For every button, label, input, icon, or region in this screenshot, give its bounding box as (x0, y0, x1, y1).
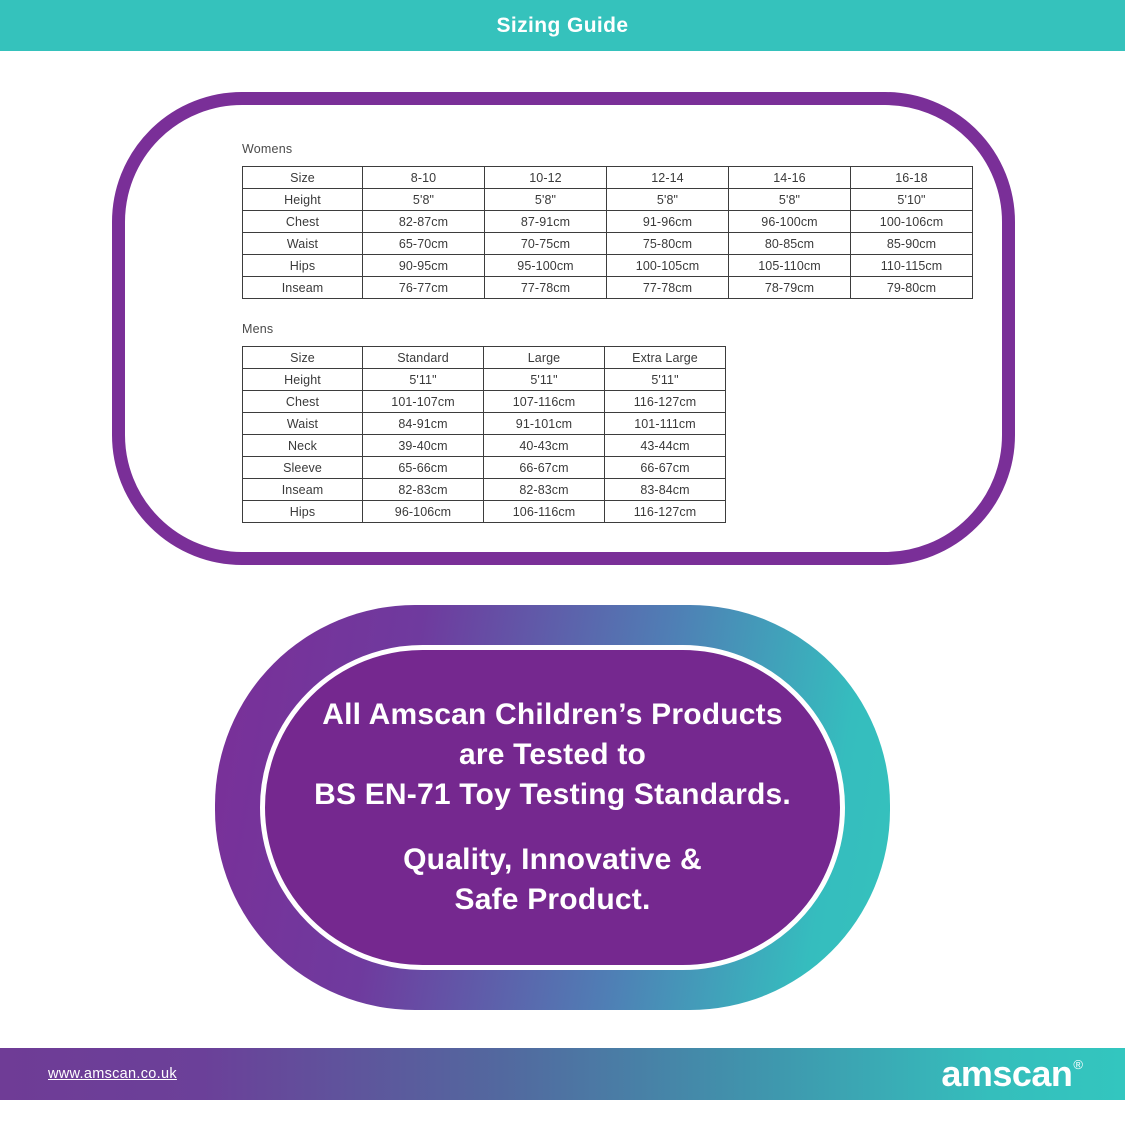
table-cell: 116-127cm (605, 391, 726, 413)
table-cell: 8-10 (363, 167, 485, 189)
mens-table-body: Size Standard Large Extra Large Height 5… (243, 347, 726, 523)
safety-badge-inner: All Amscan Children’s Products are Teste… (260, 645, 845, 970)
registered-trademark-icon: ® (1073, 1058, 1083, 1071)
row-label: Hips (243, 501, 363, 523)
website-link[interactable]: www.amscan.co.uk (48, 1066, 177, 1082)
row-label: Inseam (243, 277, 363, 299)
womens-size-table: Size 8-10 10-12 12-14 14-16 16-18 Height… (242, 166, 973, 299)
table-row: Neck 39-40cm 40-43cm 43-44cm (243, 435, 726, 457)
table-cell: 5'8" (363, 189, 485, 211)
badge-line: BS EN-71 Toy Testing Standards. (314, 775, 791, 815)
row-label: Size (243, 167, 363, 189)
table-cell: 91-101cm (484, 413, 605, 435)
table-cell: 79-80cm (851, 277, 973, 299)
badge-line: are Tested to (459, 735, 646, 775)
table-row: Size Standard Large Extra Large (243, 347, 726, 369)
table-row: Size 8-10 10-12 12-14 14-16 16-18 (243, 167, 973, 189)
table-cell: 5'10" (851, 189, 973, 211)
table-cell: 5'11" (484, 369, 605, 391)
amscan-logo-text: amscan (941, 1056, 1072, 1092)
table-row: Inseam 76-77cm 77-78cm 77-78cm 78-79cm 7… (243, 277, 973, 299)
table-cell: 16-18 (851, 167, 973, 189)
mens-size-table: Size Standard Large Extra Large Height 5… (242, 346, 726, 523)
page-title: Sizing Guide (497, 14, 629, 38)
table-cell: 96-106cm (363, 501, 484, 523)
table-cell: 101-107cm (363, 391, 484, 413)
table-cell: 5'8" (729, 189, 851, 211)
table-row: Waist 84-91cm 91-101cm 101-111cm (243, 413, 726, 435)
table-cell: 5'8" (485, 189, 607, 211)
table-cell: 116-127cm (605, 501, 726, 523)
table-cell: Extra Large (605, 347, 726, 369)
table-cell: 78-79cm (729, 277, 851, 299)
table-cell: 106-116cm (484, 501, 605, 523)
table-cell: 82-83cm (484, 479, 605, 501)
row-label: Height (243, 189, 363, 211)
table-cell: 65-66cm (363, 457, 484, 479)
table-cell: 100-105cm (607, 255, 729, 277)
table-cell: Standard (363, 347, 484, 369)
table-cell: 85-90cm (851, 233, 973, 255)
table-row: Hips 90-95cm 95-100cm 100-105cm 105-110c… (243, 255, 973, 277)
table-cell: 12-14 (607, 167, 729, 189)
row-label: Chest (243, 211, 363, 233)
mens-table-block: Mens Size Standard Large Extra Large Hei… (242, 322, 726, 523)
table-cell: 105-110cm (729, 255, 851, 277)
table-cell: 70-75cm (485, 233, 607, 255)
row-label: Waist (243, 413, 363, 435)
table-row: Chest 82-87cm 87-91cm 91-96cm 96-100cm 1… (243, 211, 973, 233)
table-cell: 84-91cm (363, 413, 484, 435)
table-row: Hips 96-106cm 106-116cm 116-127cm (243, 501, 726, 523)
table-cell: 66-67cm (605, 457, 726, 479)
table-cell: 75-80cm (607, 233, 729, 255)
safety-badge: All Amscan Children’s Products are Teste… (215, 605, 890, 1010)
table-cell: 95-100cm (485, 255, 607, 277)
table-cell: 101-111cm (605, 413, 726, 435)
womens-table-block: Womens Size 8-10 10-12 12-14 14-16 16-18… (242, 142, 973, 299)
womens-table-caption: Womens (242, 142, 973, 156)
table-cell: 80-85cm (729, 233, 851, 255)
table-cell: 77-78cm (485, 277, 607, 299)
table-cell: 83-84cm (605, 479, 726, 501)
table-cell: 14-16 (729, 167, 851, 189)
table-cell: 10-12 (485, 167, 607, 189)
table-cell: 110-115cm (851, 255, 973, 277)
row-label: Inseam (243, 479, 363, 501)
table-cell: 66-67cm (484, 457, 605, 479)
row-label: Waist (243, 233, 363, 255)
table-row: Height 5'11" 5'11" 5'11" (243, 369, 726, 391)
table-cell: 107-116cm (484, 391, 605, 413)
table-cell: 65-70cm (363, 233, 485, 255)
table-row: Height 5'8" 5'8" 5'8" 5'8" 5'10" (243, 189, 973, 211)
row-label: Chest (243, 391, 363, 413)
mens-table-caption: Mens (242, 322, 726, 336)
table-cell: 76-77cm (363, 277, 485, 299)
table-cell: 91-96cm (607, 211, 729, 233)
table-cell: 39-40cm (363, 435, 484, 457)
amscan-logo: amscan ® (941, 1056, 1083, 1092)
table-cell: 82-87cm (363, 211, 485, 233)
table-row: Inseam 82-83cm 82-83cm 83-84cm (243, 479, 726, 501)
footer-bar: www.amscan.co.uk amscan ® (0, 1048, 1125, 1100)
table-row: Sleeve 65-66cm 66-67cm 66-67cm (243, 457, 726, 479)
badge-line: Safe Product. (455, 880, 651, 920)
row-label: Height (243, 369, 363, 391)
table-cell: 100-106cm (851, 211, 973, 233)
table-cell: 40-43cm (484, 435, 605, 457)
table-cell: 5'11" (605, 369, 726, 391)
table-cell: 5'11" (363, 369, 484, 391)
header-bar: Sizing Guide (0, 0, 1125, 51)
table-cell: 87-91cm (485, 211, 607, 233)
row-label: Neck (243, 435, 363, 457)
table-cell: 82-83cm (363, 479, 484, 501)
table-cell: 5'8" (607, 189, 729, 211)
badge-line: Quality, Innovative & (403, 840, 702, 880)
row-label: Hips (243, 255, 363, 277)
size-tables-card: Womens Size 8-10 10-12 12-14 14-16 16-18… (112, 92, 1015, 565)
row-label: Sleeve (243, 457, 363, 479)
table-cell: 90-95cm (363, 255, 485, 277)
table-cell: 96-100cm (729, 211, 851, 233)
womens-table-body: Size 8-10 10-12 12-14 14-16 16-18 Height… (243, 167, 973, 299)
table-cell: Large (484, 347, 605, 369)
table-row: Waist 65-70cm 70-75cm 75-80cm 80-85cm 85… (243, 233, 973, 255)
table-row: Chest 101-107cm 107-116cm 116-127cm (243, 391, 726, 413)
row-label: Size (243, 347, 363, 369)
table-cell: 77-78cm (607, 277, 729, 299)
table-cell: 43-44cm (605, 435, 726, 457)
badge-line: All Amscan Children’s Products (322, 695, 783, 735)
